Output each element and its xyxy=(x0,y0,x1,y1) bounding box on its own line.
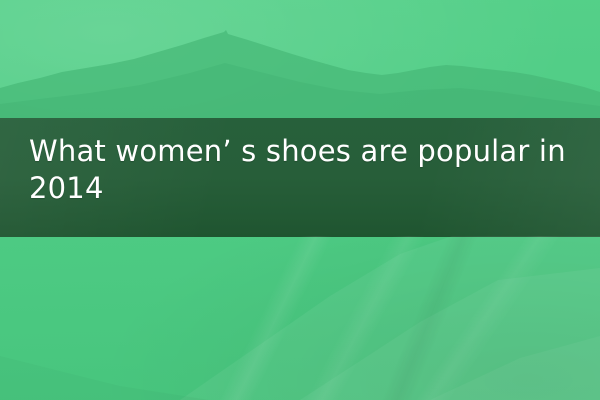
slope-texture-overlay xyxy=(0,236,600,400)
cover-image: What women’ s shoes are popular in 2014 xyxy=(0,0,600,400)
mountain-ridge-upper xyxy=(0,0,600,120)
page-title: What women’ s shoes are popular in 2014 xyxy=(29,133,585,207)
